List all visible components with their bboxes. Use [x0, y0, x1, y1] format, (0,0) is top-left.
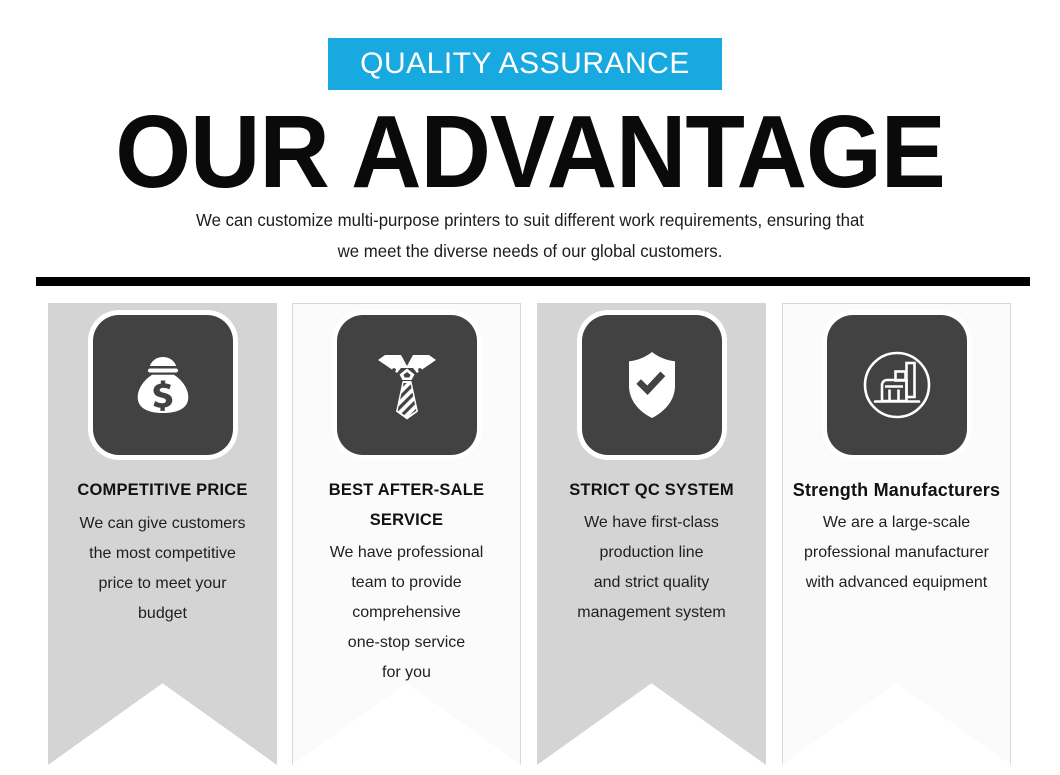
icon-tile: [93, 315, 233, 455]
icon-tile: [337, 315, 477, 455]
eyebrow-label: QUALITY ASSURANCE: [360, 49, 690, 79]
card-body-line: management system: [541, 598, 762, 628]
card-body-line: budget: [52, 599, 273, 629]
money-bag-icon: [121, 343, 205, 427]
quality-assurance-banner: QUALITY ASSURANCE: [328, 38, 722, 90]
card-body-line: professional manufacturer: [786, 538, 1007, 568]
advantage-card-strength-manufacturers: Strength Manufacturers We are a large-sc…: [782, 303, 1011, 765]
card-body-line: We have first-class: [541, 508, 762, 538]
advantage-card-competitive-price: COMPETITIVE PRICE We can give customers …: [48, 303, 277, 765]
card-title: Strength Manufacturers: [786, 475, 1007, 505]
advantage-card-list: COMPETITIVE PRICE We can give customers …: [0, 303, 1060, 775]
card-body: We can give customers the most competiti…: [52, 509, 273, 629]
card-body-line: team to provide: [296, 568, 517, 598]
card-body: We have first-class production line and …: [541, 508, 762, 628]
card-body-line: We have professional: [296, 538, 517, 568]
necktie-icon: [364, 342, 450, 428]
card-body-line: and strict quality: [541, 568, 762, 598]
advantage-card-after-sale-service: BEST AFTER-SALE SERVICE We have professi…: [292, 303, 521, 765]
card-title-line-2: SERVICE: [370, 511, 444, 529]
advantage-card-strict-qc-system: STRICT QC SYSTEM We have first-class pro…: [537, 303, 766, 765]
card-body: We are a large-scale professional manufa…: [786, 508, 1007, 598]
card-body-line: price to meet your: [52, 569, 273, 599]
shield-check-icon: [610, 343, 694, 427]
icon-tile: [827, 315, 967, 455]
card-body-line: for you: [296, 658, 517, 688]
subtitle-line-2: we meet the diverse needs of our global …: [146, 236, 914, 267]
section-divider: [36, 277, 1030, 286]
card-body: We have professional team to provide com…: [296, 538, 517, 688]
subtitle-line-1: We can customize multi-purpose printers …: [146, 205, 914, 236]
card-title: COMPETITIVE PRICE: [52, 475, 273, 505]
card-title-line-1: BEST AFTER-SALE: [329, 481, 484, 499]
card-title: STRICT QC SYSTEM: [541, 475, 762, 505]
card-body-line: comprehensive: [296, 598, 517, 628]
card-body-line: We are a large-scale: [786, 508, 1007, 538]
card-body-line: We can give customers: [52, 509, 273, 539]
card-body-line: production line: [541, 538, 762, 568]
page-title: OUR ADVANTAGE: [0, 101, 1060, 204]
factory-circle-icon: [851, 339, 943, 431]
icon-tile: [582, 315, 722, 455]
page-subtitle: We can customize multi-purpose printers …: [146, 205, 914, 267]
card-body-line: with advanced equipment: [786, 568, 1007, 598]
card-body-line: the most competitive: [52, 539, 273, 569]
card-body-line: one-stop service: [296, 628, 517, 658]
card-title: BEST AFTER-SALE SERVICE: [296, 475, 517, 535]
